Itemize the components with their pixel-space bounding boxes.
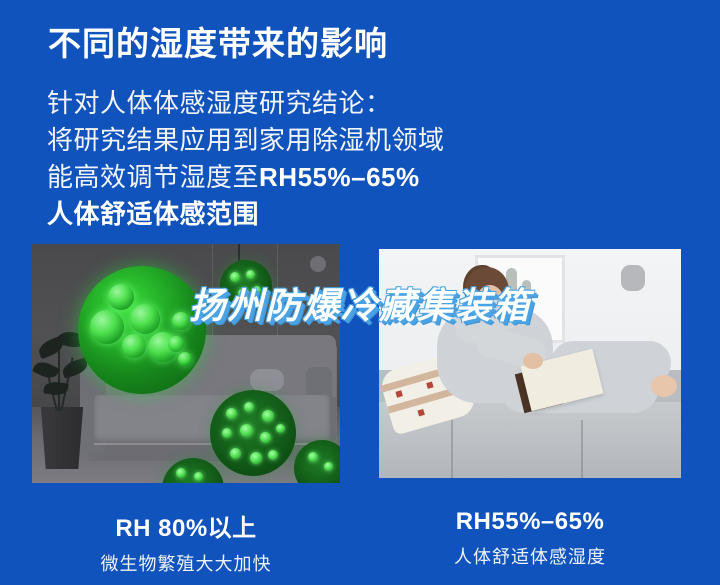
caption-right-title: RH55%–65% (379, 508, 681, 536)
microbe-pock (240, 424, 253, 437)
microbe-pock (324, 462, 333, 471)
pillow-dot (395, 390, 402, 397)
microbe-pock (260, 432, 271, 443)
microbe-pock (222, 428, 232, 438)
microbe-bubble (122, 334, 146, 358)
woman-hand (523, 353, 543, 369)
intro-text-block: 针对人体体感湿度研究结论： 将研究结果应用到家用除湿机领域 能高效调节湿度至RH… (47, 85, 517, 233)
caption-high-humidity: RH 80%以上 微生物繁殖大大加快 (32, 508, 340, 576)
intro-line-1: 针对人体体感湿度研究结论： (47, 85, 517, 122)
intro-line-3: 能高效调节湿度至RH55%–65% (47, 159, 517, 196)
microbe-pock (226, 408, 237, 419)
wall-knob (310, 256, 326, 272)
microbe-bubble (168, 336, 184, 352)
sofa-seat-seam (451, 420, 453, 478)
microbe-pock (276, 424, 285, 433)
microbe-pock (268, 450, 278, 460)
intro-line-3-prefix: 能高效调节湿度至 (47, 162, 259, 192)
caption-right-subtitle: 人体舒适体感湿度 (379, 543, 681, 569)
microbe-pock (244, 402, 254, 412)
intro-line-3-value: RH55%–65% (259, 162, 420, 192)
plant-stem (58, 345, 60, 411)
sofa-cushion (250, 369, 284, 391)
potted-plant-pot (38, 407, 86, 469)
microbe-pock (176, 468, 186, 478)
intro-line-4: 人体舒适体感范围 (47, 196, 517, 233)
watermark-text: 扬州防爆冷藏集装箱 (0, 277, 720, 329)
intro-line-2: 将研究结果应用到家用除湿机领域 (47, 122, 517, 159)
pillow-dot (417, 409, 424, 416)
microbe-sphere-virus (210, 390, 296, 476)
microbe-pock (308, 452, 318, 462)
poster-root: 不同的湿度带来的影响 针对人体体感湿度研究结论： 将研究结果应用到家用除湿机领域… (0, 0, 720, 585)
microbe-pock (262, 410, 274, 422)
woman-foot (651, 375, 677, 397)
page-title: 不同的湿度带来的影响 (48, 17, 388, 65)
microbe-bubble (178, 352, 192, 366)
microbe-pock (194, 472, 203, 481)
microbe-pock (250, 452, 262, 464)
caption-comfort-humidity: RH55%–65% 人体舒适体感湿度 (379, 508, 681, 569)
pillow-dot (426, 381, 433, 388)
caption-left-subtitle: 微生物繁殖大大加快 (32, 550, 340, 576)
caption-left-title: RH 80%以上 (32, 508, 340, 543)
microbe-pock (230, 448, 241, 459)
sofa-seat-seam (581, 420, 583, 478)
